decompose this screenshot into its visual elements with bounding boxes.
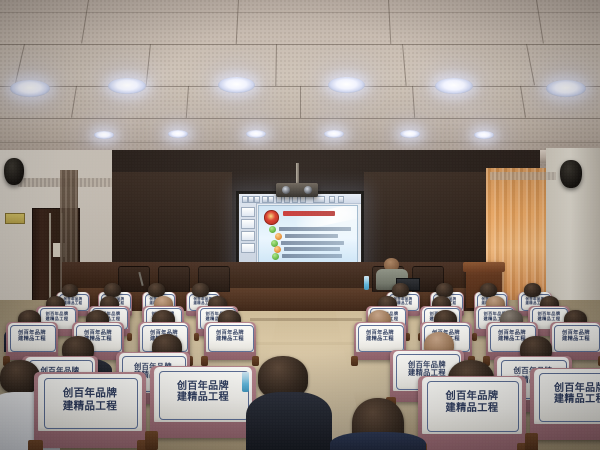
- chair-cover-text: 创百年品牌 建精品工程: [41, 312, 73, 322]
- attendee-head: [436, 283, 453, 297]
- wall-panel: [364, 172, 492, 268]
- chair-cover: 创百年品牌 建精品工程: [154, 367, 252, 422]
- bullet-text-line: [285, 234, 338, 238]
- wall-speaker-icon: [560, 160, 582, 188]
- bullet-text-line: [281, 241, 344, 245]
- slide-bullet-row: [271, 240, 347, 244]
- armrest: [252, 356, 259, 366]
- wall-vent-grille: [490, 172, 556, 180]
- slide-thumbnail[interactable]: [241, 207, 255, 217]
- projector-mount-pole: [296, 163, 299, 185]
- slide-bullet-row: [272, 253, 346, 257]
- seat[interactable]: 创百年品牌 建精品工程: [204, 322, 256, 360]
- bullet-text-line: [279, 227, 351, 231]
- chair-cover: 创百年品牌 建精品工程: [534, 369, 600, 424]
- slide-thumbnail[interactable]: [241, 243, 255, 253]
- attendee-head: [524, 283, 541, 297]
- ceiling-light: [246, 130, 266, 138]
- ceiling-light: [168, 130, 188, 138]
- slide-thumbnail-panel[interactable]: [239, 203, 257, 265]
- attendee-shoulders: [330, 432, 426, 450]
- ceiling-light: [94, 131, 114, 139]
- conference-hall-photo: 创百年品牌 建精品工程 创百年品牌 建精品工程 创百年品牌 建精品工程 创百年品…: [0, 0, 600, 450]
- attendee-head: [480, 283, 497, 297]
- armrest: [194, 333, 199, 341]
- chair-cover-text: 创百年品牌 建精品工程: [430, 391, 513, 415]
- chair-cover: 创百年品牌 建精品工程: [422, 377, 521, 433]
- ceiling-light: [328, 77, 365, 93]
- seat[interactable]: 创百年品牌 建精品工程: [150, 366, 256, 438]
- ceiling-light: [474, 131, 494, 139]
- water-bottle-icon: [242, 372, 249, 392]
- seat[interactable]: 创百年品牌 建精品工程: [34, 372, 146, 448]
- dais-chair: [118, 266, 150, 292]
- chair-cover: 创百年品牌 建精品工程: [8, 323, 56, 352]
- chair-cover-text: 创百年品牌 建精品工程: [47, 387, 134, 412]
- attendee-head: [392, 283, 409, 297]
- wall-speaker-icon: [4, 158, 24, 185]
- floor-riser-step: [250, 318, 362, 321]
- projector-lens-icon: [282, 186, 290, 194]
- chair-cover-text: 创百年品牌 建精品工程: [541, 383, 600, 407]
- chair-cover-text: 创百年品牌 建精品工程: [360, 330, 400, 342]
- bullet-icon: [272, 253, 279, 260]
- lectern-top: [463, 262, 505, 272]
- water-bottle-icon: [364, 276, 369, 290]
- chair-cover-text: 创百年品牌 建精品工程: [533, 312, 565, 322]
- bullet-text-line: [284, 247, 340, 251]
- seat[interactable]: 创百年品牌 建精品工程: [530, 368, 600, 440]
- slide-title-banner: [283, 211, 336, 216]
- ceiling-grid: [0, 0, 600, 168]
- slide-bullet-row: [274, 246, 345, 250]
- seat[interactable]: 创百年品牌 建精品工程: [418, 376, 526, 450]
- ceiling-light: [10, 80, 50, 97]
- attendee-head: [148, 283, 165, 297]
- attendee-head: [104, 283, 121, 297]
- projector-lens-icon: [304, 186, 312, 194]
- chair-cover: 创百年品牌 建精品工程: [356, 323, 404, 352]
- slide-thumbnail[interactable]: [241, 231, 255, 241]
- ceiling: [0, 0, 600, 168]
- armrest: [525, 433, 538, 450]
- presentation-slide: [258, 205, 358, 263]
- armrest: [127, 333, 132, 341]
- ceiling-light: [546, 80, 586, 97]
- ceiling-light: [435, 78, 473, 94]
- armrest: [145, 431, 159, 450]
- ceiling-light: [218, 77, 255, 93]
- seat[interactable]: 创百年品牌 建精品工程: [550, 322, 600, 360]
- attendee-head: [62, 284, 78, 297]
- chair-cover-text: 创百年品牌 建精品工程: [556, 330, 596, 342]
- chair-cover-text: 创百年品牌 建精品工程: [398, 361, 455, 378]
- chair-cover-text: 创百年品牌 建精品工程: [12, 330, 52, 342]
- bullet-text-line: [282, 254, 343, 258]
- armrest: [351, 356, 358, 366]
- ceiling-light: [400, 130, 420, 138]
- armrest: [28, 440, 43, 450]
- chair-cover-text: 创百年品牌 建精品工程: [162, 381, 244, 405]
- chair-cover: 创百年品牌 建精品工程: [206, 323, 254, 352]
- organization-emblem-icon: [264, 210, 279, 224]
- attendee-shoulders: [246, 392, 332, 450]
- wall-sign-plaque: [5, 213, 25, 224]
- seat[interactable]: 创百年品牌 建精品工程: [6, 322, 58, 360]
- slide-bullet-row: [269, 226, 351, 230]
- slide-thumbnail[interactable]: [241, 219, 255, 229]
- armrest: [472, 333, 477, 341]
- chair-cover: 创百年品牌 建精品工程: [552, 323, 600, 352]
- slide-bullet-row: [275, 233, 344, 237]
- chair-cover: 创百年品牌 建精品工程: [38, 374, 141, 432]
- floor-riser-step: [244, 342, 370, 345]
- chair-cover-text: 创百年品牌 建精品工程: [210, 330, 250, 342]
- ceiling-light: [108, 78, 146, 94]
- slide-canvas: [239, 194, 361, 272]
- armrest: [201, 356, 208, 366]
- attendee-head: [192, 283, 209, 297]
- ceiling-light: [324, 130, 344, 138]
